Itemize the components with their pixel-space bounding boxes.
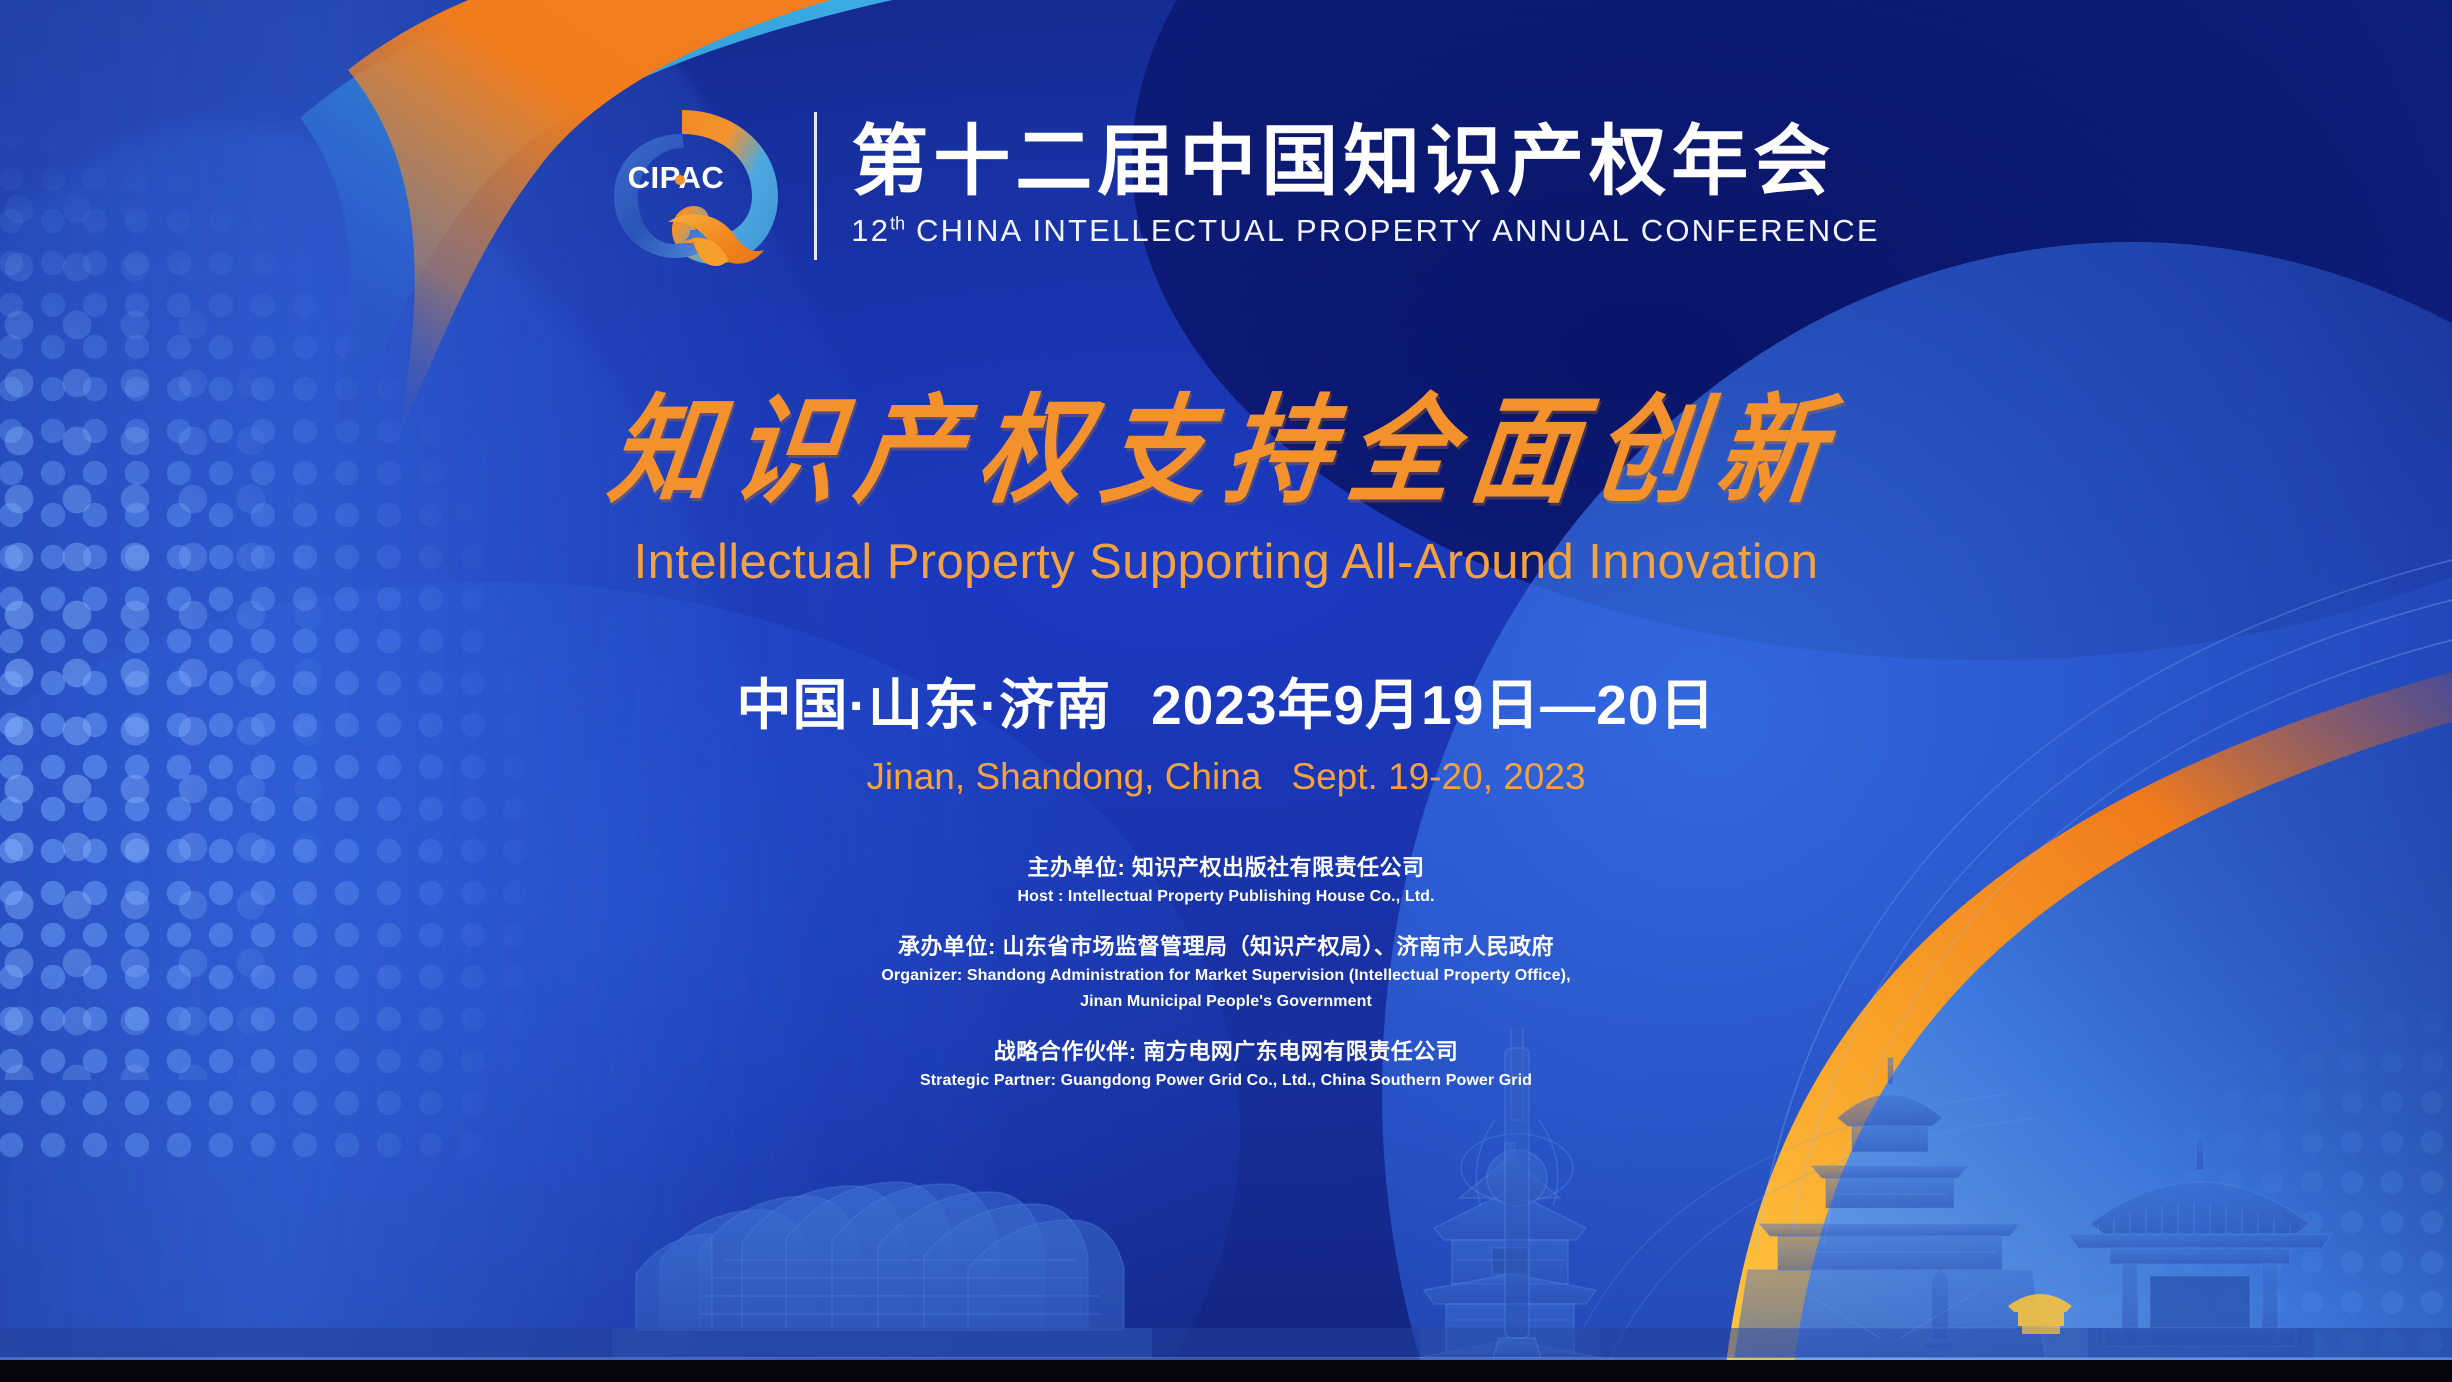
slogan-cn: 知识产权支持全面创新 <box>0 385 2452 517</box>
credit-partner-cn: 战略合作伙伴: 南方电网广东电网有限责任公司 <box>0 1036 2452 1067</box>
credit-organizer-en: Organizer: Shandong Administration for M… <box>0 965 2452 988</box>
date-location-cn: 中国·山东·济南2023年9月19日—20日 <box>0 660 2452 740</box>
conference-ordinal-number: 12 <box>851 213 890 248</box>
conference-ordinal-suffix: th <box>890 213 905 233</box>
credits-block: 主办单位: 知识产权出版社有限责任公司 Host : Intellectual … <box>0 852 2452 1093</box>
location-cn: 中国·山东·济南 <box>737 674 1112 736</box>
cipac-logo: CIPAC <box>572 96 792 276</box>
credit-host-cn: 主办单位: 知识产权出版社有限责任公司 <box>0 852 2452 883</box>
header-titles: 第十二届中国知识产权年会 12th CHINA INTELLECTUAL PRO… <box>851 123 1880 249</box>
credit-host-en: Host : Intellectual Property Publishing … <box>0 886 2452 909</box>
header-divider <box>814 112 817 260</box>
slogan-block: 知识产权支持全面创新 Intellectual Property Support… <box>0 392 2452 590</box>
conference-title-en: 12th CHINA INTELLECTUAL PROPERTY ANNUAL … <box>851 213 1880 249</box>
logo-orange-dot <box>675 175 685 185</box>
date-en: Sept. 19-20, 2023 <box>1291 756 1585 797</box>
bottom-black-bar <box>0 1360 2452 1382</box>
slogan-en: Intellectual Property Supporting All-Aro… <box>0 534 2452 590</box>
credit-partner-en: Strategic Partner: Guangdong Power Grid … <box>0 1070 2452 1093</box>
poster-content: CIPAC 第十二届中国知识产权年会 12th CHINA INTELLECTU… <box>0 0 2452 1382</box>
credit-strategic-partner: 战略合作伙伴: 南方电网广东电网有限责任公司 Strategic Partner… <box>0 1036 2452 1093</box>
conference-title-en-rest: CHINA INTELLECTUAL PROPERTY ANNUAL CONFE… <box>916 213 1880 248</box>
conference-poster: CIPAC 第十二届中国知识产权年会 12th CHINA INTELLECTU… <box>0 0 2452 1382</box>
poster-header: CIPAC 第十二届中国知识产权年会 12th CHINA INTELLECTU… <box>0 96 2452 276</box>
credit-organizer-en-line2: Jinan Municipal People's Government <box>0 991 2452 1014</box>
date-location-en: Jinan, Shandong, ChinaSept. 19-20, 2023 <box>0 756 2452 798</box>
credit-organizer: 承办单位: 山东省市场监督管理局（知识产权局）、济南市人民政府 Organize… <box>0 931 2452 1014</box>
cipac-swirl-icon: CIPAC <box>572 96 792 276</box>
conference-title-cn: 第十二届中国知识产权年会 <box>851 123 1880 202</box>
credit-host: 主办单位: 知识产权出版社有限责任公司 Host : Intellectual … <box>0 852 2452 909</box>
date-cn: 2023年9月19日—20日 <box>1151 674 1715 736</box>
credit-organizer-cn: 承办单位: 山东省市场监督管理局（知识产权局）、济南市人民政府 <box>0 931 2452 962</box>
location-en: Jinan, Shandong, China <box>866 756 1261 797</box>
date-location-block: 中国·山东·济南2023年9月19日—20日 Jinan, Shandong, … <box>0 660 2452 798</box>
